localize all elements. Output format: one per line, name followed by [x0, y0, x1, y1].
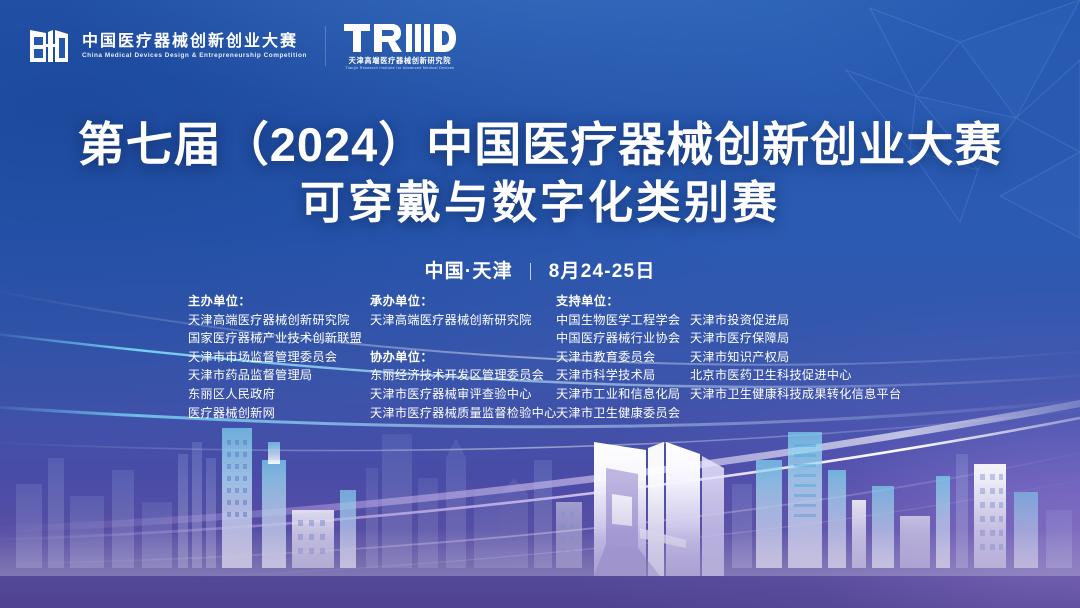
competition-logo: 中国医疗器械创新创业大赛 China Medical Devices Desig…	[26, 23, 307, 69]
conference-poster: 中国医疗器械创新创业大赛 China Medical Devices Desig…	[0, 0, 1080, 608]
supporter-column: 支持单位： 中国生物医学工程学会 中国医疗器械行业协会 天津市教育委员会 天津市…	[556, 292, 901, 422]
host-item: 天津市市场监督管理委员会	[188, 348, 370, 367]
title-line-1: 第七届（2024）中国医疗器械创新创业大赛	[0, 118, 1080, 173]
supporter-item: 北京市医药卫生科技促进中心	[690, 366, 901, 385]
institute-logo-en: Tianjin Research Institute for Advanced …	[346, 67, 455, 71]
event-date: 8月24-25日	[549, 261, 656, 282]
organizer-item: 天津高端医疗器械创新研究院	[370, 311, 556, 330]
supporter-subcolumn-left: 支持单位： 中国生物医学工程学会 中国医疗器械行业协会 天津市教育委员会 天津市…	[556, 292, 690, 422]
event-location: 中国·天津	[424, 261, 512, 282]
supporter-item: 天津市医疗保障局	[690, 329, 901, 348]
host-item: 医疗器械创新网	[188, 404, 370, 423]
supporter-item: 天津市科学技术局	[556, 366, 690, 385]
competition-logo-cn: 中国医疗器械创新创业大赛	[82, 34, 307, 50]
title-line-2: 可穿戴与数字化类别赛	[0, 173, 1080, 233]
coorganizer-item: 天津市医疗器械质量监督检验中心	[370, 404, 556, 423]
host-item: 国家医疗器械产业技术创新联盟	[188, 329, 370, 348]
host-item: 天津市药品监督管理局	[188, 366, 370, 385]
host-heading: 主办单位：	[188, 292, 370, 311]
trmd-wordmark-icon	[344, 22, 456, 54]
supporter-item: 天津市教育委员会	[556, 348, 690, 367]
city-skyline-illustration	[0, 398, 1080, 608]
supporter-item: 天津市知识产权局	[690, 348, 901, 367]
organizer-column: 承办单位： 天津高端医疗器械创新研究院 协办单位： 东丽经济技术开发区管理委员会…	[370, 292, 556, 422]
open-door-logo-icon	[26, 23, 72, 69]
event-meta: 中国·天津 8月24-25日	[0, 256, 1080, 283]
host-item: 东丽区人民政府	[188, 385, 370, 404]
host-item: 天津高端医疗器械创新研究院	[188, 311, 370, 330]
heading-spacer	[690, 292, 901, 311]
logo-bar: 中国医疗器械创新创业大赛 China Medical Devices Desig…	[26, 22, 456, 71]
coorganizer-item: 东丽经济技术开发区管理委员会	[370, 366, 556, 385]
competition-logo-en: China Medical Devices Design & Entrepren…	[82, 53, 307, 59]
organizer-heading: 承办单位：	[370, 292, 556, 311]
host-column: 主办单位： 天津高端医疗器械创新研究院 国家医疗器械产业技术创新联盟 天津市市场…	[188, 292, 370, 422]
logo-divider	[325, 26, 326, 66]
supporter-item: 天津市工业和信息化局	[556, 385, 690, 404]
supporter-item: 中国医疗器械行业协会	[556, 329, 690, 348]
organizations-block: 主办单位： 天津高端医疗器械创新研究院 国家医疗器械产业技术创新联盟 天津市市场…	[188, 292, 960, 422]
column-gap	[370, 329, 556, 348]
institute-logo-cn: 天津高端医疗器械创新研究院	[349, 57, 452, 64]
supporter-item: 中国生物医学工程学会	[556, 311, 690, 330]
institute-logo: 天津高端医疗器械创新研究院 Tianjin Research Institute…	[344, 22, 456, 71]
supporter-item: 天津市卫生健康科技成果转化信息平台	[690, 385, 901, 404]
supporter-item: 天津市卫生健康委员会	[556, 404, 690, 423]
coorganizer-item: 天津市医疗器械审评查验中心	[370, 385, 556, 404]
coorganizer-heading: 协办单位：	[370, 348, 556, 367]
meta-separator	[530, 263, 531, 280]
supporter-heading: 支持单位：	[556, 292, 690, 311]
poster-title: 第七届（2024）中国医疗器械创新创业大赛 可穿戴与数字化类别赛	[0, 118, 1080, 233]
supporter-item: 天津市投资促进局	[690, 311, 901, 330]
supporter-subcolumn-right: 天津市投资促进局 天津市医疗保障局 天津市知识产权局 北京市医药卫生科技促进中心…	[690, 292, 901, 404]
